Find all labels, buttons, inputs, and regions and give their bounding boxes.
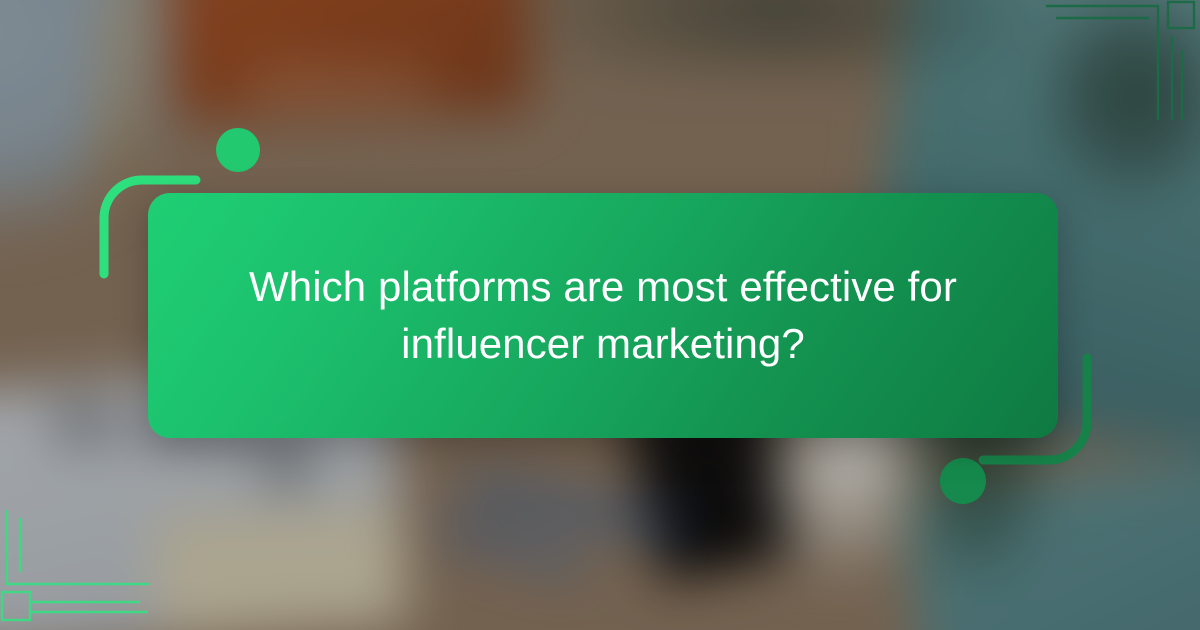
question-card: Which platforms are most effective for i…: [148, 193, 1058, 438]
accent-dot-bottom-right: [940, 458, 986, 504]
question-title: Which platforms are most effective for i…: [238, 259, 968, 372]
accent-dot-top-left: [216, 128, 260, 172]
share-card-canvas: Which platforms are most effective for i…: [0, 0, 1200, 630]
